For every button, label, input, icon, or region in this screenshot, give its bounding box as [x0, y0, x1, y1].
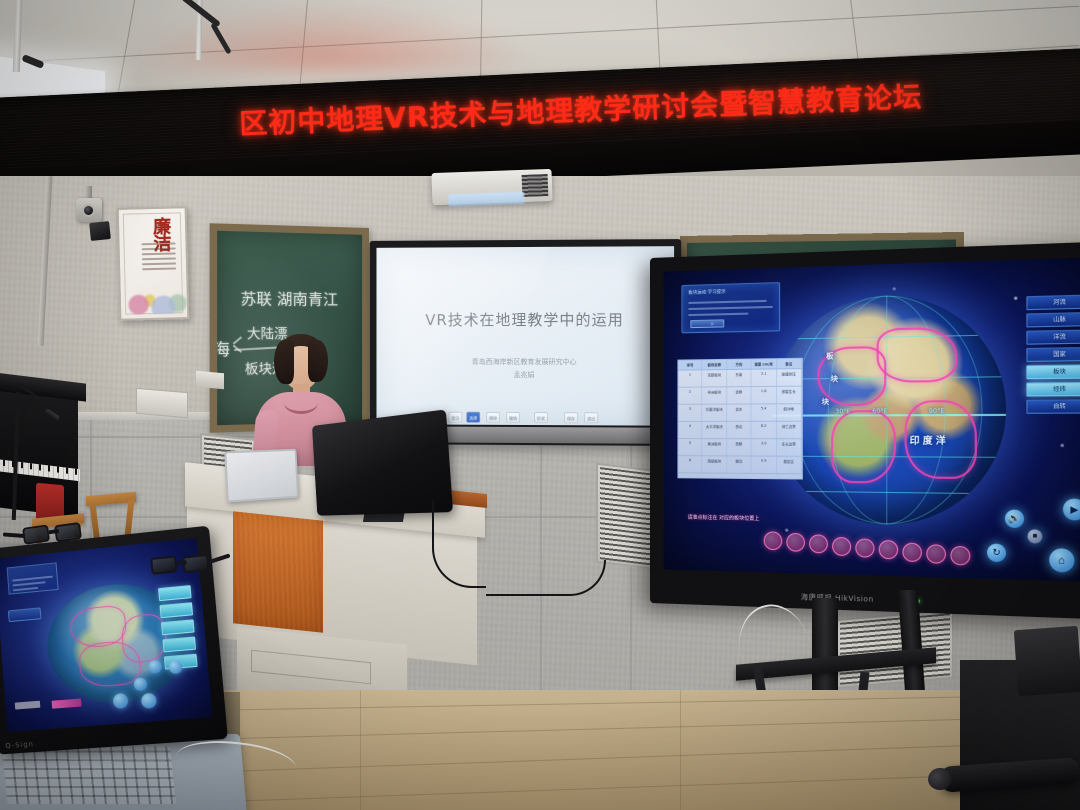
laptop-control-dock[interactable]	[102, 657, 193, 712]
laptop-info-panel[interactable]	[7, 562, 59, 594]
vr-interactive-display[interactable]: 板 块 块 印度洋 60°E 90°E 30°E 板块运动 学习提示	[650, 241, 1080, 619]
radiator-grille-far-right	[836, 609, 954, 689]
marker-chip[interactable]	[764, 531, 782, 550]
wall-camera	[72, 186, 106, 244]
vr-dock-hint: 请准点标注在 对应的板块位置上	[687, 515, 759, 523]
table-row: 5美洲板块 西移3.0 生长边界	[678, 439, 801, 457]
classroom-scene: 区初中地理VR技术与地理教学研讨会暨智慧教育论坛 廉洁 苏联	[0, 0, 1080, 810]
vr-display-screen[interactable]: 板 块 块 印度洋 60°E 90°E 30°E 板块运动 学习提示	[664, 257, 1080, 582]
laptop-status-bar	[52, 698, 82, 708]
marker-chip[interactable]	[832, 537, 851, 556]
home-icon[interactable]: ⌂	[1049, 548, 1074, 573]
marker-chip[interactable]	[879, 540, 898, 559]
vr-menu-item-countries[interactable]: 国家	[1026, 347, 1080, 362]
marker-chip[interactable]	[786, 533, 805, 552]
wall-shelf-item	[196, 371, 224, 389]
vr-data-table: 序号 板块名称 方向 速度 cm/年 备注 1亚欧板块 东南2.1 碰撞挤压 2…	[677, 358, 802, 480]
table-row: 1亚欧板块 东南2.1 碰撞挤压	[678, 369, 801, 388]
laptop-tag-button[interactable]	[8, 607, 42, 622]
laptop-control-icon[interactable]	[148, 660, 162, 674]
laptop-brand-label: Q-Sign	[5, 740, 34, 750]
toolbar-button-exit[interactable]: 退出	[584, 412, 598, 423]
table-row: 2非洲板块 北移1.8 张裂生长	[678, 387, 801, 405]
tablet-device[interactable]	[224, 449, 299, 503]
toolbar-button-annotate[interactable]: 批注	[448, 412, 462, 423]
toolbar-button-save[interactable]: 保存	[564, 412, 578, 423]
vr-info-title: 板块运动 学习提示	[688, 289, 725, 296]
storage-box	[136, 388, 188, 419]
ceiling-projector	[431, 169, 552, 205]
table-row: 6南极板块 微动0.9 稳定区	[678, 456, 801, 474]
table-row: 4太平洋板块 西北8.2 消亡边界	[678, 422, 801, 440]
marker-chip[interactable]	[926, 544, 946, 564]
vr-menu-item-gridlines[interactable]: 经纬	[1026, 382, 1080, 397]
vr-menu-item-rivers[interactable]: 河流	[1026, 294, 1080, 310]
lectern-monitor[interactable]	[305, 418, 450, 514]
laptop-menu-item[interactable]	[160, 602, 194, 618]
vr-info-panel[interactable]: 板块运动 学习提示	[681, 282, 780, 333]
laptop-menu-item[interactable]	[162, 636, 196, 652]
vr-layer-menu[interactable]: 河流 山脉 洋流 国家 板块 经纬 自转	[1026, 294, 1080, 417]
laptop-control-icon[interactable]	[168, 660, 182, 674]
lotus-illustration	[124, 279, 187, 315]
projection-screen[interactable]: VR技术在地理教学中的运用 青岛西海岸新区教育发展研究中心 孟兆娟	[376, 246, 674, 426]
laptop-home-icon[interactable]	[141, 693, 157, 709]
vr-menu-item-currents[interactable]: 洋流	[1026, 329, 1080, 344]
slide-organization: 青岛西海岸新区教育发展研究中心	[376, 357, 674, 367]
vr-menu-item-rotation[interactable]: 自转	[1026, 399, 1080, 413]
vr-menu-item-plates[interactable]: 板块	[1026, 364, 1080, 379]
slide-title: VR技术在地理教学中的运用	[376, 309, 674, 330]
wall-poster: 廉洁	[117, 206, 190, 321]
chalk-text-2: 海	[213, 335, 230, 360]
marker-chip[interactable]	[855, 538, 874, 557]
laptop-menu-item[interactable]	[161, 619, 195, 635]
laptop-keyboard[interactable]	[1, 746, 176, 804]
vr-info-start-button[interactable]	[690, 319, 724, 328]
laptop-control-icon[interactable]	[133, 677, 147, 691]
toolbar-button-undo[interactable]: 撤销	[506, 412, 520, 423]
laptop-control-icon[interactable]	[112, 693, 128, 709]
chalk-text-1: 苏联 湖南青江	[241, 288, 339, 310]
ocean-label: 印度洋	[910, 433, 949, 447]
reset-icon[interactable]: ↻	[987, 543, 1006, 562]
wall-speaker	[89, 221, 111, 241]
toolbar-button-shape[interactable]: 形状	[534, 412, 548, 423]
slide-presenter-name: 孟兆娟	[376, 370, 674, 381]
marker-chip[interactable]	[902, 543, 922, 562]
toolbar-button-erase[interactable]: 擦除	[486, 412, 500, 423]
volume-icon[interactable]: 🔊	[1005, 509, 1024, 528]
marker-chip[interactable]	[950, 546, 970, 566]
camera-lens-icon	[82, 204, 95, 217]
laptop-menu-item[interactable]	[158, 585, 192, 601]
laptop-screen[interactable]	[0, 538, 212, 732]
table-row: 3印度洋板块 北东5.4 俯冲带	[678, 404, 801, 422]
stop-icon[interactable]: ■	[1028, 529, 1043, 543]
vr-menu-item-mountains[interactable]: 山脉	[1026, 312, 1080, 328]
marker-chip[interactable]	[809, 534, 828, 553]
toolbar-button-select[interactable]: 选择	[466, 412, 480, 423]
